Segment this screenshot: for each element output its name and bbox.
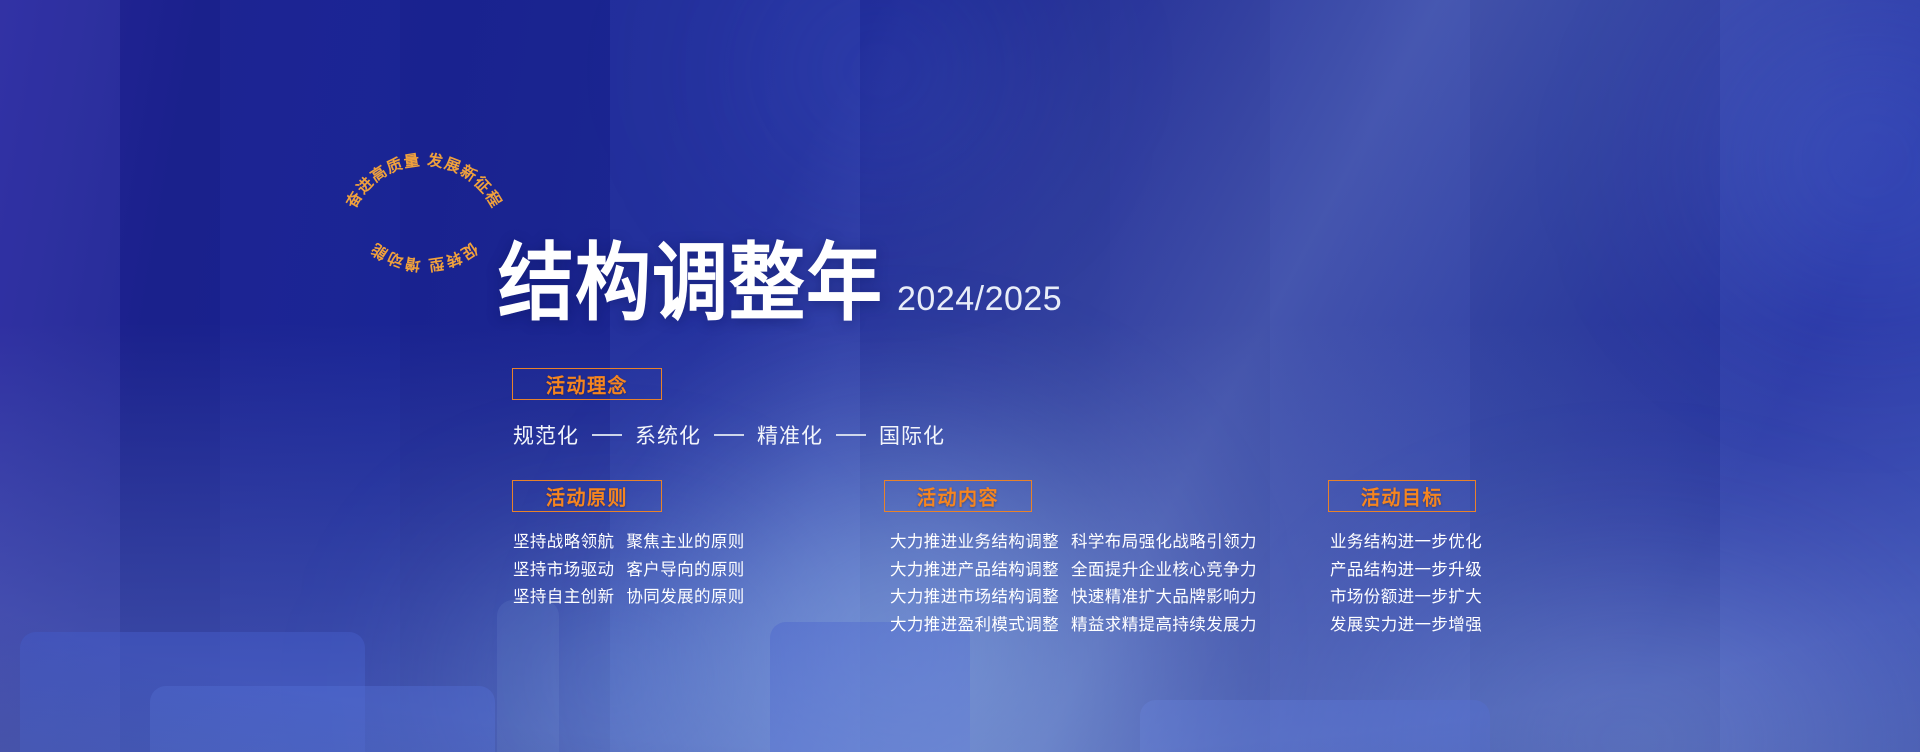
idea-slogan-item: 国际化 xyxy=(879,420,945,450)
list-item-secondary: 精益求精提高持续发展力 xyxy=(1071,617,1257,634)
badge-activity-content-label: 活动内容 xyxy=(917,482,999,511)
badge-activity-principle[interactable]: 活动原则 xyxy=(512,480,662,512)
badge-activity-goal-label: 活动目标 xyxy=(1361,482,1443,511)
list-item: 大力推进市场结构调整快速精准扩大品牌影响力 xyxy=(890,589,1257,617)
list-item: 发展实力进一步增强 xyxy=(1330,617,1482,645)
list-item-primary: 大力推进产品结构调整 xyxy=(890,562,1059,579)
list-item-secondary: 科学布局强化战略引领力 xyxy=(1071,534,1257,551)
idea-slogan-item: 系统化 xyxy=(635,420,701,450)
badge-activity-idea[interactable]: 活动理念 xyxy=(512,368,662,400)
list-item: 坚持自主创新协同发展的原则 xyxy=(513,589,745,617)
list-item-secondary: 协同发展的原则 xyxy=(626,589,744,606)
list-item-primary: 大力推进市场结构调整 xyxy=(890,589,1059,606)
list-activity-principle: 坚持战略领航聚焦主业的原则坚持市场驱动客户导向的原则坚持自主创新协同发展的原则 xyxy=(513,534,745,617)
list-item-primary: 坚持市场驱动 xyxy=(513,562,614,579)
list-activity-content: 大力推进业务结构调整科学布局强化战略引领力大力推进产品结构调整全面提升企业核心竞… xyxy=(890,534,1257,644)
list-item: 大力推进业务结构调整科学布局强化战略引领力 xyxy=(890,534,1257,562)
list-item: 业务结构进一步优化 xyxy=(1330,534,1482,562)
list-item-primary: 产品结构进一步升级 xyxy=(1330,562,1482,579)
slogan-separator-dash xyxy=(714,434,744,436)
list-item-primary: 市场份额进一步扩大 xyxy=(1330,589,1482,606)
slogan-separator-dash xyxy=(836,434,866,436)
stamp-arc-top-text: 奋进高质量 发展新征程 xyxy=(341,150,505,212)
list-item: 市场份额进一步扩大 xyxy=(1330,589,1482,617)
list-item: 坚持战略领航聚焦主业的原则 xyxy=(513,534,745,562)
list-activity-goal: 业务结构进一步优化产品结构进一步升级市场份额进一步扩大发展实力进一步增强 xyxy=(1330,534,1482,644)
idea-slogan-item: 规范化 xyxy=(513,420,579,450)
badge-activity-content[interactable]: 活动内容 xyxy=(884,480,1032,512)
stamp-arc-bottom-text: 促转型 增动能 xyxy=(367,238,482,274)
list-item-primary: 业务结构进一步优化 xyxy=(1330,534,1482,551)
list-item-primary: 大力推进盈利模式调整 xyxy=(890,617,1059,634)
badge-activity-goal[interactable]: 活动目标 xyxy=(1328,480,1476,512)
badge-activity-idea-label: 活动理念 xyxy=(546,370,628,399)
list-item: 坚持市场驱动客户导向的原则 xyxy=(513,562,745,590)
list-item-secondary: 快速精准扩大品牌影响力 xyxy=(1071,589,1257,606)
badge-activity-principle-label: 活动原则 xyxy=(546,482,628,511)
list-item: 大力推进盈利模式调整精益求精提高持续发展力 xyxy=(890,617,1257,645)
list-item-secondary: 客户导向的原则 xyxy=(626,562,744,579)
idea-slogan-chain: 规范化系统化精准化国际化 xyxy=(513,420,945,450)
page-title: 结构调整年 xyxy=(498,243,883,326)
slogan-separator-dash xyxy=(592,434,622,436)
list-item: 产品结构进一步升级 xyxy=(1330,562,1482,590)
hero-year-range: 2024/2025 xyxy=(897,280,1062,326)
list-item-secondary: 聚焦主业的原则 xyxy=(626,534,744,551)
list-item-primary: 坚持战略领航 xyxy=(513,534,614,551)
list-item-primary: 坚持自主创新 xyxy=(513,589,614,606)
hero-title-row: 结构调整年 2024/2025 xyxy=(498,252,1062,326)
list-item-secondary: 全面提升企业核心竞争力 xyxy=(1071,562,1257,579)
list-item: 大力推进产品结构调整全面提升企业核心竞争力 xyxy=(890,562,1257,590)
idea-slogan-item: 精准化 xyxy=(757,420,823,450)
list-item-primary: 大力推进业务结构调整 xyxy=(890,534,1059,551)
circular-slogan-stamp: 奋进高质量 发展新征程 促转型 增动能 xyxy=(340,128,508,296)
list-item-primary: 发展实力进一步增强 xyxy=(1330,617,1482,634)
